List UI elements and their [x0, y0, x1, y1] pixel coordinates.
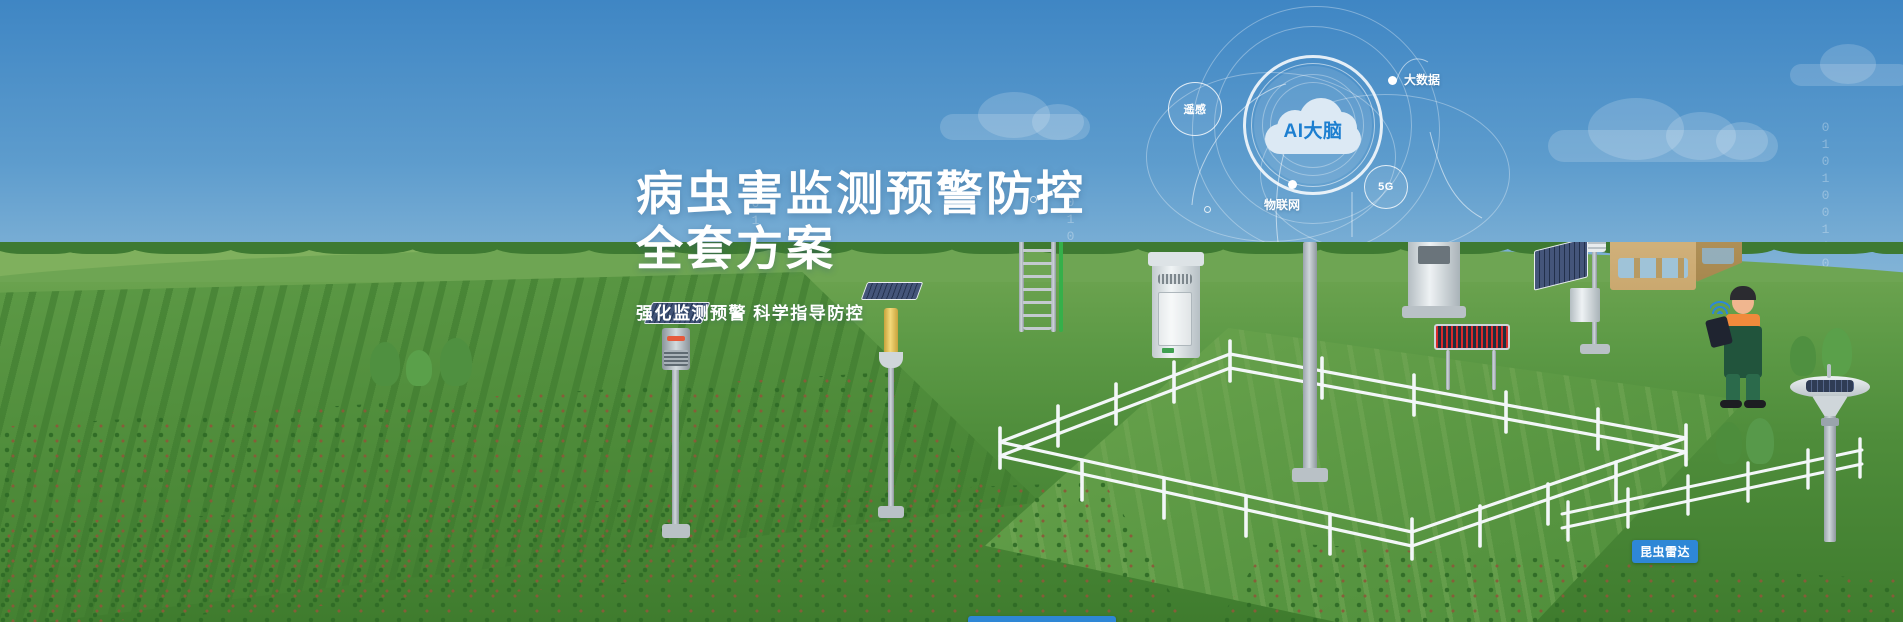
led-post-left — [1446, 350, 1450, 390]
sex-lure-funnel — [1812, 396, 1848, 418]
node-anchor-bottom — [1204, 206, 1211, 213]
sex-lure-solar-cells — [1806, 380, 1854, 392]
node-remote-sensing[interactable]: 遥感 — [1168, 82, 1222, 136]
ai-brain-label: AI大脑 — [1265, 116, 1361, 143]
iot-lamp-pole — [888, 352, 894, 512]
wifi-signal-icon — [1710, 300, 1730, 314]
lamp-base — [662, 524, 690, 538]
farmer-shoe-right — [1744, 400, 1766, 408]
sex-lure-antenna — [1827, 364, 1831, 378]
farmer-with-tablet — [1710, 282, 1780, 412]
led-post-right — [1492, 350, 1496, 390]
cloud-far-right — [1790, 44, 1903, 88]
page-subtitle: 强化监测预警 科学指导防控 — [636, 299, 1086, 324]
spore-cabinet-top — [1148, 252, 1204, 266]
tower-column — [1303, 242, 1317, 472]
led-screen — [1434, 324, 1510, 350]
spore-cabinet-door — [1158, 292, 1192, 346]
device-suction-tower-forecast-system[interactable] — [1276, 242, 1346, 502]
collector-base — [1402, 306, 1466, 318]
node-remote-sensing-label: 遥感 — [1184, 101, 1207, 117]
farmer-leg-right — [1746, 374, 1760, 402]
hero-headline: 病虫害监测预警防控 全套方案 强化监测预警 科学指导防控 — [636, 166, 1086, 324]
node-big-data-label: 大数据 — [1404, 71, 1440, 88]
node-5g-label: 5G — [1378, 181, 1394, 193]
node-5g[interactable]: 5G — [1364, 165, 1408, 209]
iot-lamp-collector — [879, 352, 903, 368]
hero-banner: 0100010110010010 10100010 01000101100100… — [0, 0, 1903, 622]
node-iot-label: 物联网 — [1264, 196, 1300, 213]
shrub-cluster-left — [370, 352, 510, 386]
weather-solar-panel — [1534, 242, 1588, 291]
ai-brain-core: AI大脑 — [1254, 66, 1372, 184]
lamp-indicator — [667, 336, 685, 341]
radar-side-windows — [1702, 242, 1734, 264]
label-insect-radar[interactable]: 昆虫雷达 — [1632, 540, 1698, 563]
node-big-data-dot[interactable] — [1388, 76, 1397, 85]
device-wind-suction-solar-insect-lamp[interactable] — [640, 302, 720, 542]
lamp-pole — [672, 362, 679, 532]
cloud-icon: AI大脑 — [1265, 96, 1361, 154]
page-title: 病虫害监测预警防控 全套方案 — [636, 166, 1086, 277]
farmer-leg-left — [1726, 374, 1740, 402]
farmer-hair — [1730, 286, 1756, 300]
farmer-shoe-left — [1720, 400, 1742, 408]
ai-brain-cluster: AI大脑 遥感 大数据 5G 物联网 — [1152, 32, 1572, 262]
collector-control-panel — [1418, 246, 1450, 264]
radar-windows-row-3 — [1618, 258, 1688, 278]
sex-lure-pole — [1824, 416, 1836, 542]
sex-lure-collar — [1821, 418, 1839, 426]
device-iot-sex-lure-forecast-system[interactable] — [1780, 360, 1890, 550]
spore-cabinet-logo — [1162, 348, 1174, 353]
label-color-lure-pest-forecast-system[interactable]: 害虫色诱虫情测报系统 — [968, 616, 1116, 622]
lamp-fan-grill — [664, 350, 688, 366]
iot-lamp-base — [878, 506, 904, 518]
node-iot-dot[interactable] — [1288, 180, 1297, 189]
page-title-line-2: 全套方案 — [636, 221, 1086, 276]
spore-cabinet-vent — [1158, 274, 1192, 284]
device-plant-spore-capture-system[interactable] — [1148, 252, 1218, 372]
page-title-line-1: 病虫害监测预警防控 — [636, 166, 1086, 221]
led-display-board[interactable] — [1434, 324, 1514, 394]
tower-base — [1292, 468, 1328, 482]
cloud-right — [1548, 96, 1848, 166]
weather-data-logger — [1570, 288, 1600, 322]
